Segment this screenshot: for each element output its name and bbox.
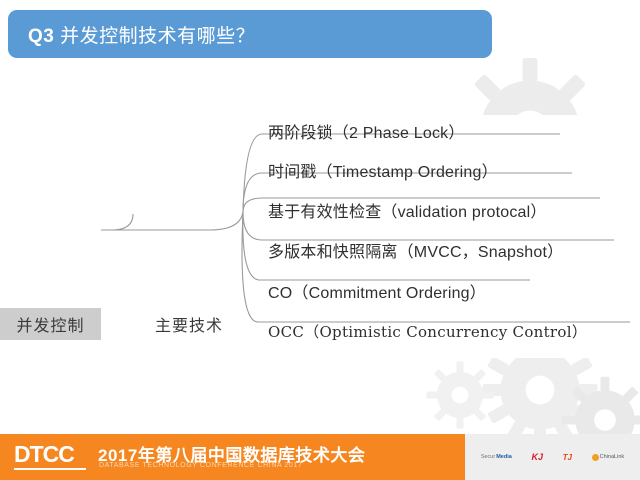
secure-media-logo[interactable]: SecurMedia (481, 454, 512, 460)
mindmap-leaf-item[interactable]: CO（Commitment Ordering） (268, 278, 486, 304)
dtcc-logo-text: DTCC (14, 441, 74, 467)
page-title: Q3 并发控制技术有哪些？ (28, 21, 255, 48)
kuaijie-logo-mark: KJ (531, 452, 543, 462)
sponsor-bar: SecurMedia KJ TJ ChinaLink (465, 434, 640, 480)
mindmap-branch-node[interactable]: 主要技术 (141, 308, 237, 340)
chinalink-logo-dot-icon (592, 454, 599, 461)
tjue-logo-mark: TJ (563, 453, 572, 462)
slide-footer: DTCC 2017年第八届中国数据库技术大会 DATABASE TECHNOLO… (0, 434, 640, 480)
mindmap-leaf-item[interactable]: 两阶段锁（2 Phase Lock） (268, 118, 465, 144)
title-question-number: Q3 (28, 26, 54, 47)
mindmap-leaf-item[interactable]: 基于有效性检查（validation protocal） (268, 197, 547, 223)
secure-media-logo-part-a: Secur (481, 454, 495, 460)
kuaijie-logo[interactable]: KJ (531, 452, 543, 462)
gear-icon (425, 360, 495, 430)
slide-title-bar: Q3 并发控制技术有哪些？ (8, 10, 492, 58)
secure-media-logo-part-b: Media (496, 454, 512, 460)
mindmap-branch-label: 主要技术 (155, 312, 223, 336)
mindmap-leaf-item[interactable]: OCC（Optimistic Concurrency Control） (268, 318, 587, 344)
title-question-text: 并发控制技术有哪些？ (60, 26, 255, 47)
mindmap-root-node[interactable]: 并发控制 (0, 308, 101, 340)
mindmap-diagram: 并发控制 主要技术 两阶段锁（2 Phase Lock） 时间戳（Timesta… (0, 110, 640, 360)
dtcc-logo-rule (14, 468, 86, 470)
dtcc-logo: DTCC (14, 442, 88, 472)
chinalink-logo[interactable]: ChinaLink (592, 454, 624, 461)
footer-orange-bar: DTCC 2017年第八届中国数据库技术大会 DATABASE TECHNOLO… (0, 434, 465, 480)
conference-subtitle: DATABASE TECHNOLOGY CONFERENCE CHINA 201… (99, 462, 302, 469)
tjue-logo[interactable]: TJ (563, 453, 572, 462)
slide-canvas: Q3 并发控制技术有哪些？ (0, 0, 640, 480)
mindmap-leaf-item[interactable]: 多版本和快照隔离（MVCC，Snapshot） (268, 237, 563, 263)
chinalink-logo-text: ChinaLink (600, 454, 624, 460)
mindmap-root-label: 并发控制 (16, 312, 84, 336)
mindmap-leaf-item[interactable]: 时间戳（Timestamp Ordering） (268, 157, 498, 183)
